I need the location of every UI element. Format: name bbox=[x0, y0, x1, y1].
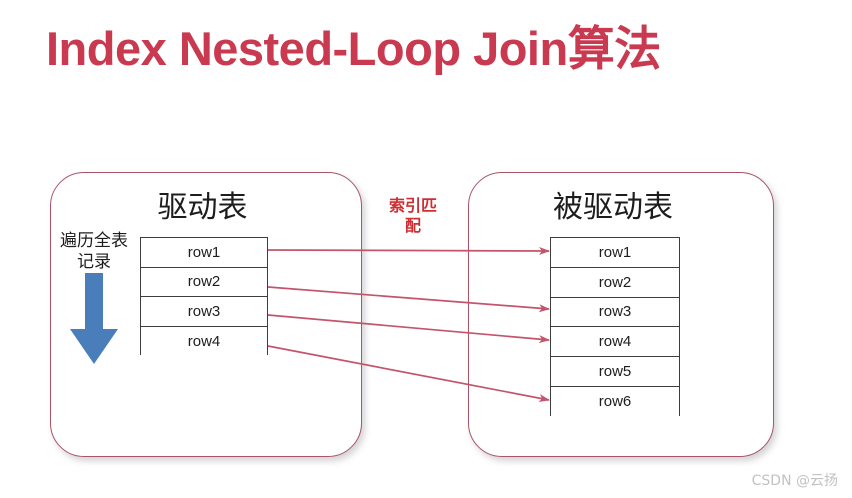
down-arrow-icon bbox=[66, 273, 122, 365]
driven-table-heading: 被驱动表 bbox=[533, 182, 693, 226]
table-row: row2 bbox=[551, 268, 679, 298]
full-scan-note: 遍历全表记录 bbox=[54, 231, 134, 272]
table-row: row4 bbox=[551, 327, 679, 357]
table-row: row5 bbox=[551, 357, 679, 387]
page-title: Index Nested-Loop Join算法 bbox=[46, 20, 661, 79]
table-row: row3 bbox=[141, 297, 267, 327]
driven-table: row1 row2 row3 row4 row5 row6 bbox=[550, 237, 680, 416]
slide-canvas: Index Nested-Loop Join算法 驱动表 遍历全表记录 row1… bbox=[0, 0, 852, 498]
driving-table-heading: 驱动表 bbox=[135, 182, 270, 226]
table-row: row3 bbox=[551, 298, 679, 328]
table-row: row1 bbox=[141, 238, 267, 268]
table-row: row6 bbox=[551, 387, 679, 417]
watermark: CSDN @云扬 bbox=[752, 470, 838, 490]
driving-table: row1 row2 row3 row4 bbox=[140, 237, 268, 355]
table-row: row2 bbox=[141, 268, 267, 298]
table-row: row1 bbox=[551, 238, 679, 268]
table-row: row4 bbox=[141, 327, 267, 357]
index-match-label: 索引匹配 bbox=[386, 196, 440, 237]
